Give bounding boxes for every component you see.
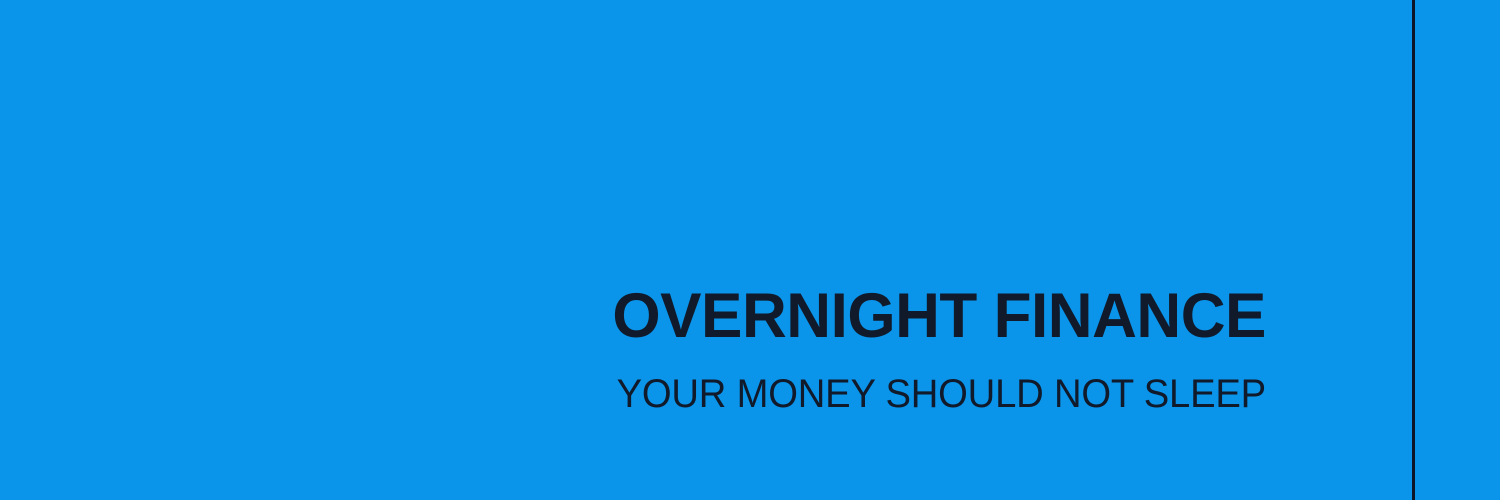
brand-title: OVERNIGHT FINANCE [596, 283, 1266, 350]
profile-banner: OVERNIGHT FINANCE YOUR MONEY SHOULD NOT … [0, 0, 1500, 500]
banner-side-panel [1415, 0, 1500, 500]
brand-lockup: OVERNIGHT FINANCE YOUR MONEY SHOULD NOT … [586, 283, 1266, 417]
banner-main-panel: OVERNIGHT FINANCE YOUR MONEY SHOULD NOT … [0, 0, 1413, 500]
brand-tagline: YOUR MONEY SHOULD NOT SLEEP [617, 372, 1266, 417]
